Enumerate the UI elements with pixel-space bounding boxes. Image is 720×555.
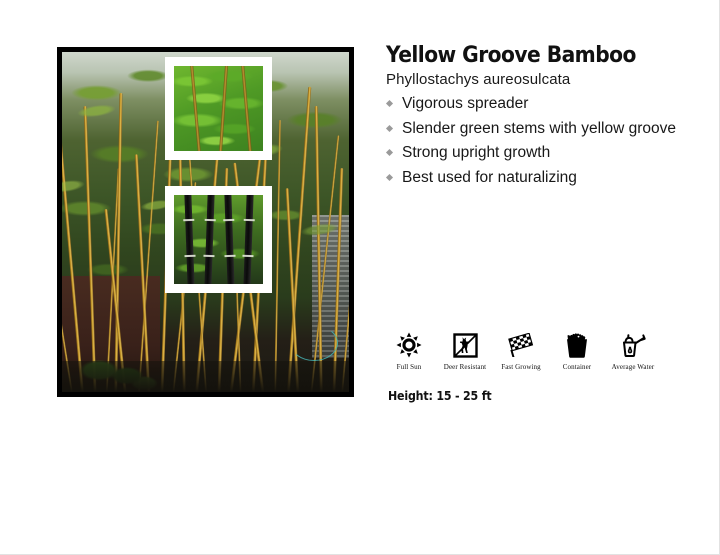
inset-photo-culms (165, 186, 272, 293)
bamboo-dark-culm (224, 195, 234, 284)
diamond-bullet-icon (386, 149, 393, 156)
attribute-average-water: Average Water (612, 330, 654, 371)
plant-info-text: Yellow Groove Bamboo Phyllostachys aureo… (386, 44, 686, 190)
watering-can-icon (619, 330, 647, 360)
bamboo-dark-culm (204, 195, 214, 284)
photo-ground-detail (62, 361, 349, 392)
attribute-fast-growing: Fast Growing (500, 330, 542, 371)
inset-photo-leaves (165, 57, 272, 160)
bamboo-stem (241, 66, 253, 151)
deer-resistant-icon (453, 330, 478, 360)
attribute-full-sun: Full Sun (388, 330, 430, 371)
list-item: Strong upright growth (386, 141, 686, 165)
attribute-container: Container (556, 330, 598, 371)
sun-icon (396, 330, 422, 360)
bamboo-culms-closeup-photo (174, 195, 263, 284)
attribute-label: Full Sun (397, 363, 422, 371)
attribute-label: Average Water (612, 363, 655, 371)
bamboo-stem (189, 66, 201, 151)
list-item: Slender green stems with yellow groove (386, 117, 686, 141)
plant-pot-icon (564, 330, 590, 360)
attribute-label: Container (563, 363, 592, 371)
plant-height-text: Height: 15 - 25 ft (388, 389, 491, 403)
feature-text: Best used for naturalizing (402, 169, 577, 186)
bamboo-stem (218, 66, 228, 151)
list-item: Best used for naturalizing (386, 166, 686, 190)
feature-text: Strong upright growth (402, 144, 550, 161)
page-title: Yellow Groove Bamboo (386, 44, 662, 67)
bamboo-leaves-closeup-photo (174, 66, 263, 151)
bamboo-dark-culm (243, 195, 253, 284)
bamboo-dark-culm (185, 195, 195, 284)
botanical-name: Phyllostachys aureosulcata (386, 71, 686, 88)
feature-list: Vigorous spreader Slender green stems wi… (386, 92, 686, 190)
attribute-label: Deer Resistant (444, 363, 486, 371)
attribute-icon-row: Full Sun Deer Resistant (388, 330, 654, 371)
list-item: Vigorous spreader (386, 92, 686, 116)
attribute-deer-resistant: Deer Resistant (444, 330, 486, 371)
diamond-bullet-icon (386, 174, 393, 181)
plant-info-card: Yellow Groove Bamboo Phyllostachys aureo… (0, 0, 720, 555)
checkered-flag-icon (507, 330, 535, 360)
feature-text: Vigorous spreader (402, 95, 528, 112)
feature-text: Slender green stems with yellow groove (402, 120, 676, 137)
diamond-bullet-icon (386, 100, 393, 107)
attribute-label: Fast Growing (501, 363, 541, 371)
diamond-bullet-icon (386, 125, 393, 132)
photo-hose-detail (290, 325, 338, 361)
